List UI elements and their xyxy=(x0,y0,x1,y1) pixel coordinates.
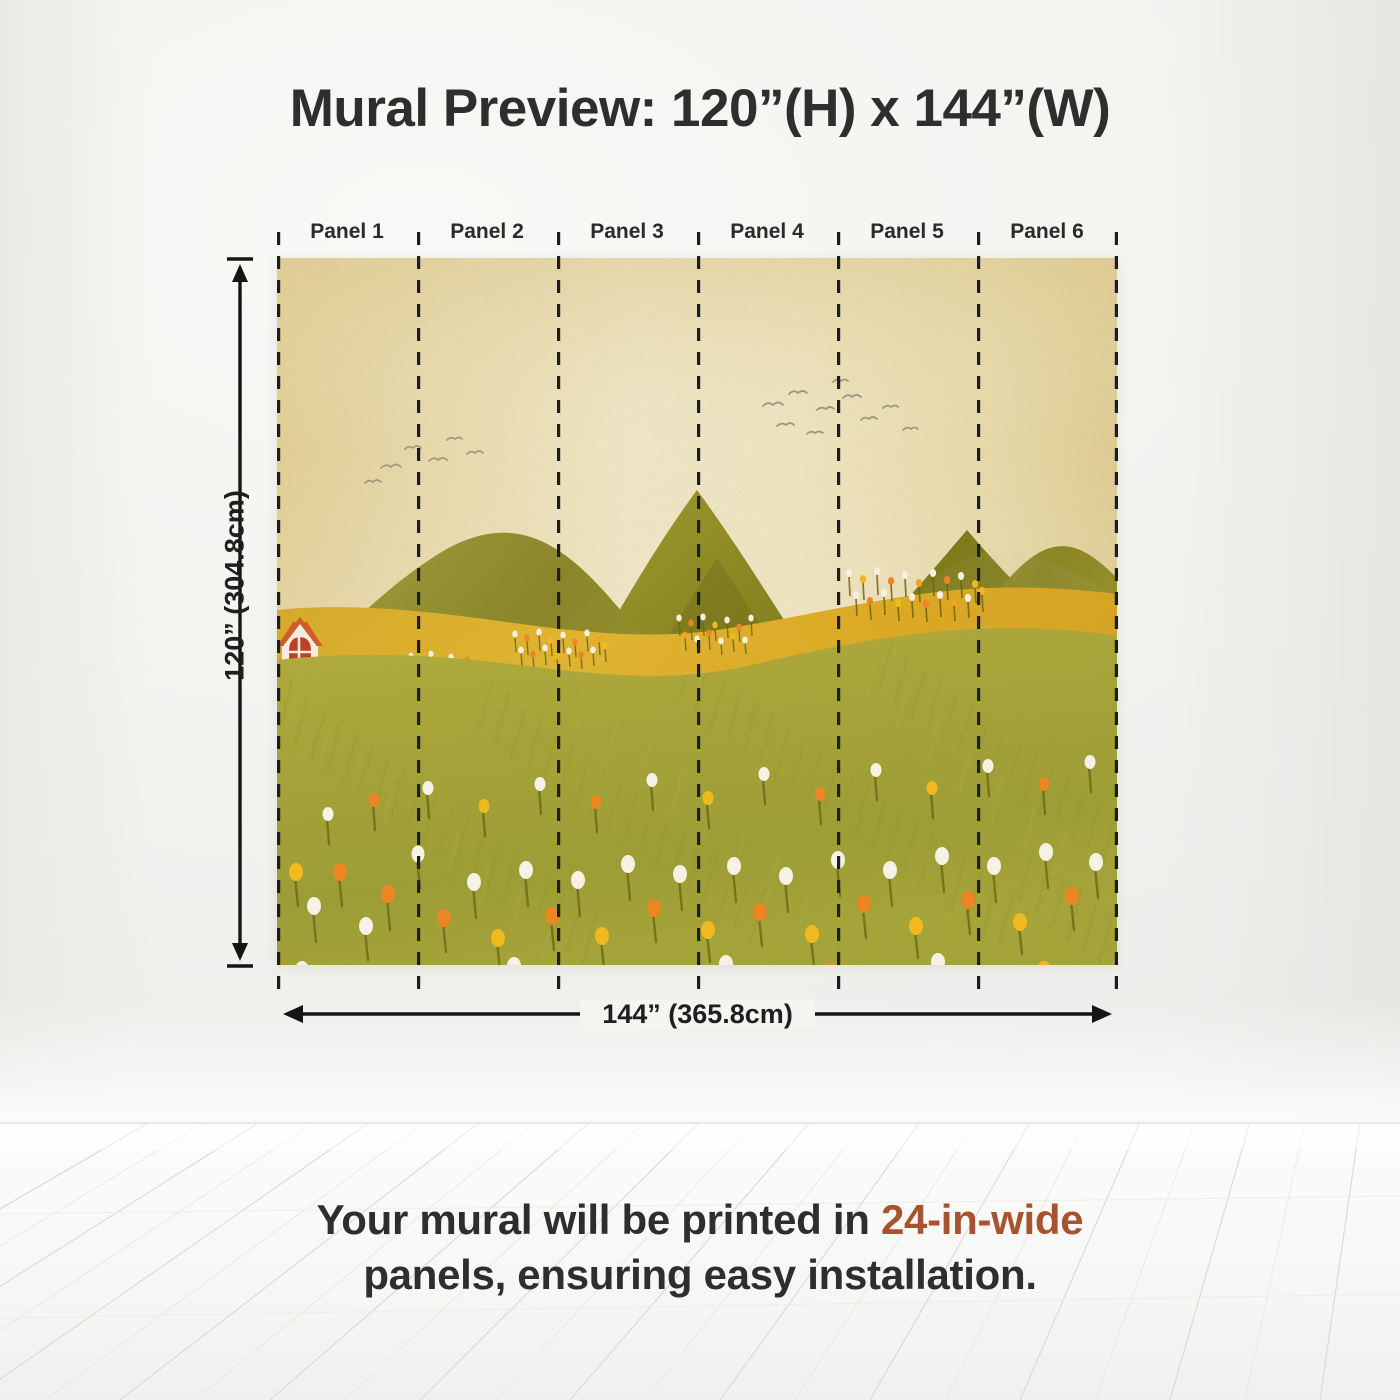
footer-caption: Your mural will be printed in 24-in-wide… xyxy=(0,1192,1400,1303)
panel-label-6: Panel 6 xyxy=(977,212,1117,252)
panel-label-row: Panel 1 Panel 2 Panel 3 Panel 4 Panel 5 … xyxy=(277,212,1117,252)
height-dimension: 120” (304.8cm) xyxy=(205,250,275,975)
panel-label-5: Panel 5 xyxy=(837,212,977,252)
width-dimension: 144” (365.8cm) xyxy=(275,990,1120,1038)
mural-preview-screenshot: Mural Preview: 120”(H) x 144”(W) Panel 1… xyxy=(0,0,1400,1400)
width-dimension-label: 144” (365.8cm) xyxy=(275,990,1120,1038)
floor-wall-junction xyxy=(0,1122,1400,1125)
caption-text-before: Your mural will be printed in xyxy=(317,1196,881,1243)
caption-line-1: Your mural will be printed in 24-in-wide xyxy=(0,1192,1400,1247)
panel-label-2: Panel 2 xyxy=(417,212,557,252)
wall-shade-left xyxy=(0,0,150,1122)
panel-label-1: Panel 1 xyxy=(277,212,417,252)
height-dimension-label: 120” (304.8cm) xyxy=(220,436,251,736)
caption-line-2: panels, ensuring easy installation. xyxy=(0,1247,1400,1302)
wall-shade-right xyxy=(1170,0,1400,1122)
panel-label-3: Panel 3 xyxy=(557,212,697,252)
caption-accent-text: 24-in-wide xyxy=(881,1196,1083,1243)
mural-artwork xyxy=(277,258,1117,965)
page-title: Mural Preview: 120”(H) x 144”(W) xyxy=(0,78,1400,139)
panel-label-4: Panel 4 xyxy=(697,212,837,252)
